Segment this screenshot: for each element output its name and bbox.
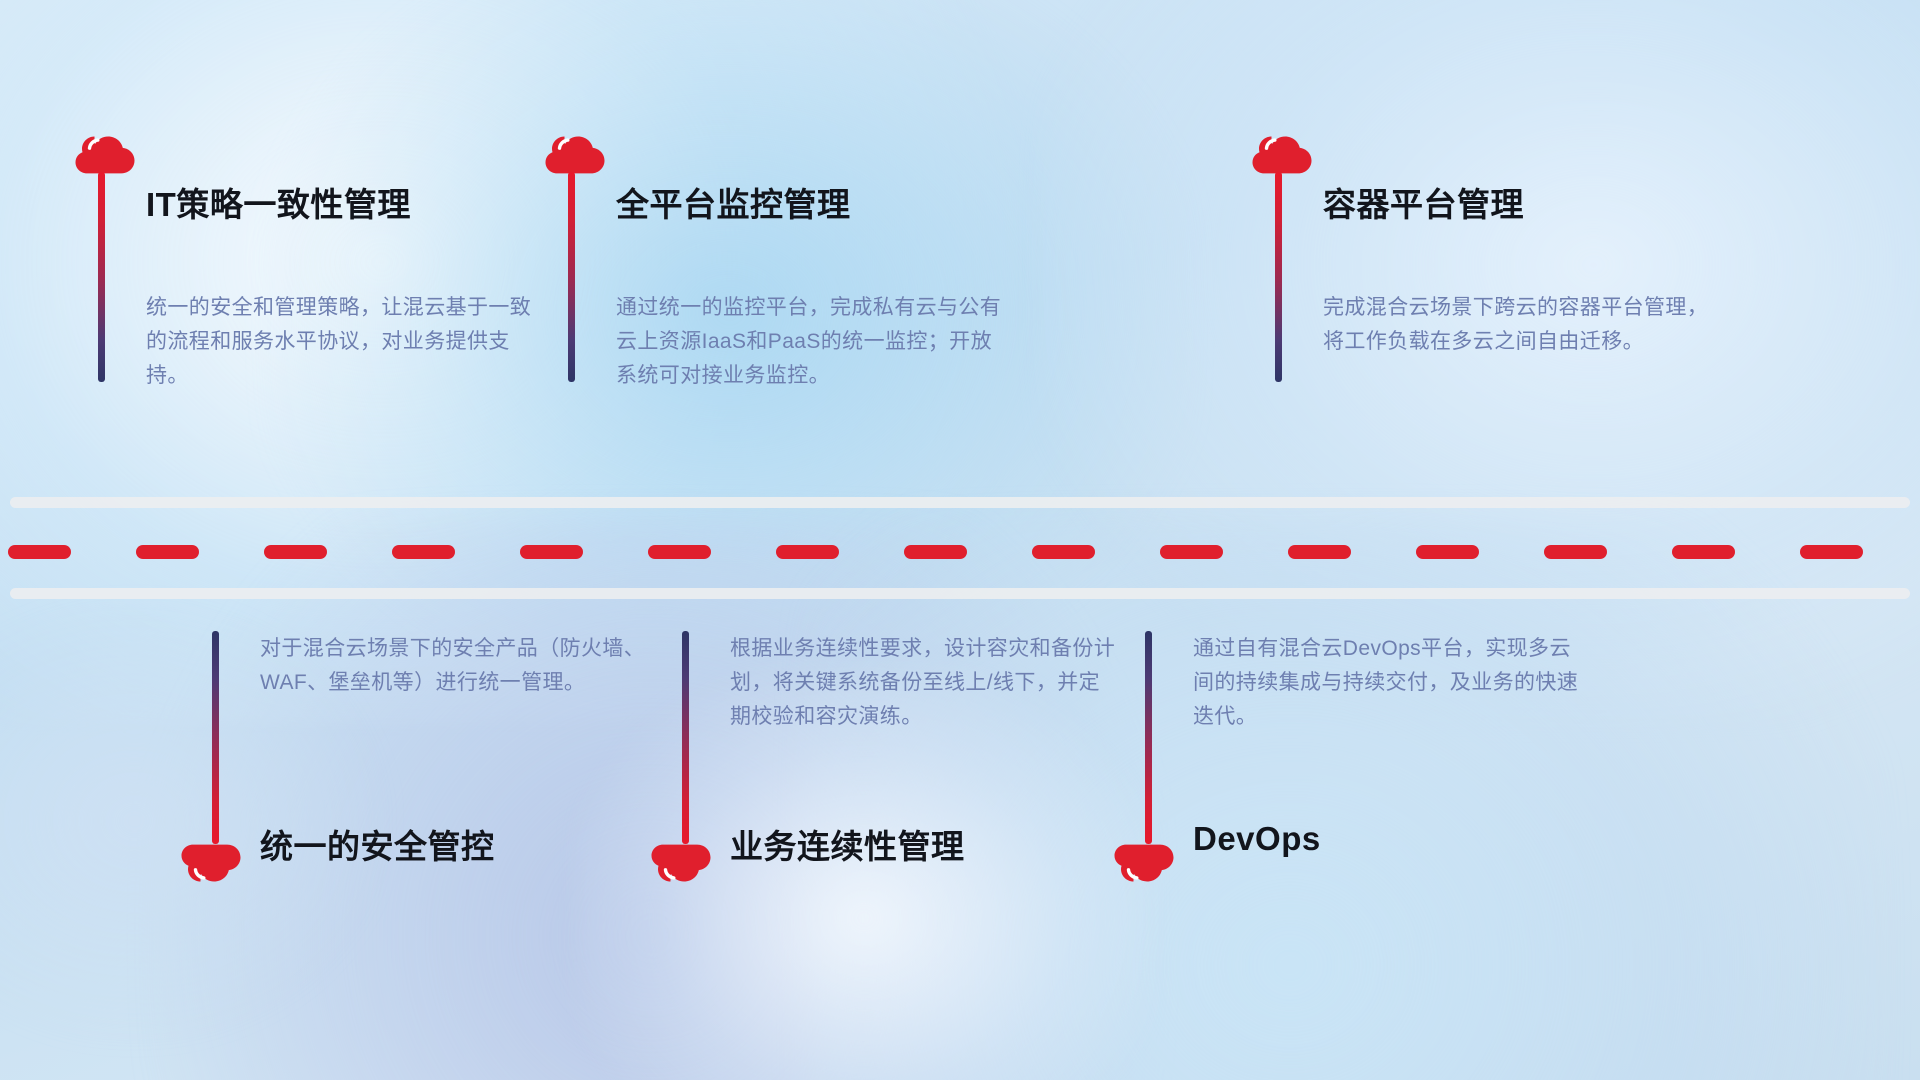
cloud-icon (544, 130, 606, 178)
connector-stem (1145, 631, 1152, 844)
dash-segment (1544, 545, 1607, 559)
dash-segment (264, 545, 327, 559)
dash-segment (1672, 545, 1735, 559)
dash-segment (1416, 545, 1479, 559)
capability-title: 全平台监控管理 (616, 178, 851, 226)
dash-segment (520, 545, 583, 559)
connector-stem (682, 631, 689, 844)
connector-stem (212, 631, 219, 844)
capability-title: IT策略一致性管理 (146, 178, 411, 226)
capability-description: 通过统一的监控平台，完成私有云与公有云上资源IaaS和PaaS的统一监控；开放系… (616, 291, 1006, 393)
connector-stem (1275, 172, 1282, 382)
dashed-separator (0, 545, 1920, 559)
dash-segment (8, 545, 71, 559)
dash-segment (1160, 545, 1223, 559)
connector-stem (568, 172, 575, 382)
capability-description: 对于混合云场景下的安全产品（防火墙、WAF、堡垒机等）进行统一管理。 (260, 632, 650, 700)
capability-description: 通过自有混合云DevOps平台，实现多云间的持续集成与持续交付，及业务的快速迭代… (1193, 632, 1583, 734)
background-gradient (0, 0, 1920, 1080)
dash-segment (392, 545, 455, 559)
divider-band-upper (10, 497, 1910, 508)
dash-segment (1288, 545, 1351, 559)
capability-description: 根据业务连续性要求，设计容灾和备份计划，将关键系统备份至线上/线下，并定期校验和… (730, 632, 1120, 734)
cloud-icon (1251, 130, 1313, 178)
dash-segment (1032, 545, 1095, 559)
capability-description: 完成混合云场景下跨云的容器平台管理，将工作负载在多云之间自由迁移。 (1323, 291, 1713, 359)
connector-stem (98, 172, 105, 382)
capability-description: 统一的安全和管理策略，让混云基于一致的流程和服务水平协议，对业务提供支持。 (146, 291, 536, 393)
dash-segment (136, 545, 199, 559)
capability-title: 业务连续性管理 (730, 820, 965, 868)
cloud-icon (1113, 840, 1175, 888)
dash-segment (904, 545, 967, 559)
capability-title: 容器平台管理 (1323, 178, 1524, 226)
cloud-icon (650, 840, 712, 888)
cloud-icon (74, 130, 136, 178)
cloud-icon (180, 840, 242, 888)
divider-band-lower (10, 588, 1910, 599)
dash-segment (1800, 545, 1863, 559)
dash-segment (776, 545, 839, 559)
capability-title: 统一的安全管控 (260, 820, 495, 868)
dash-segment (648, 545, 711, 559)
capability-title: DevOps (1193, 820, 1321, 858)
